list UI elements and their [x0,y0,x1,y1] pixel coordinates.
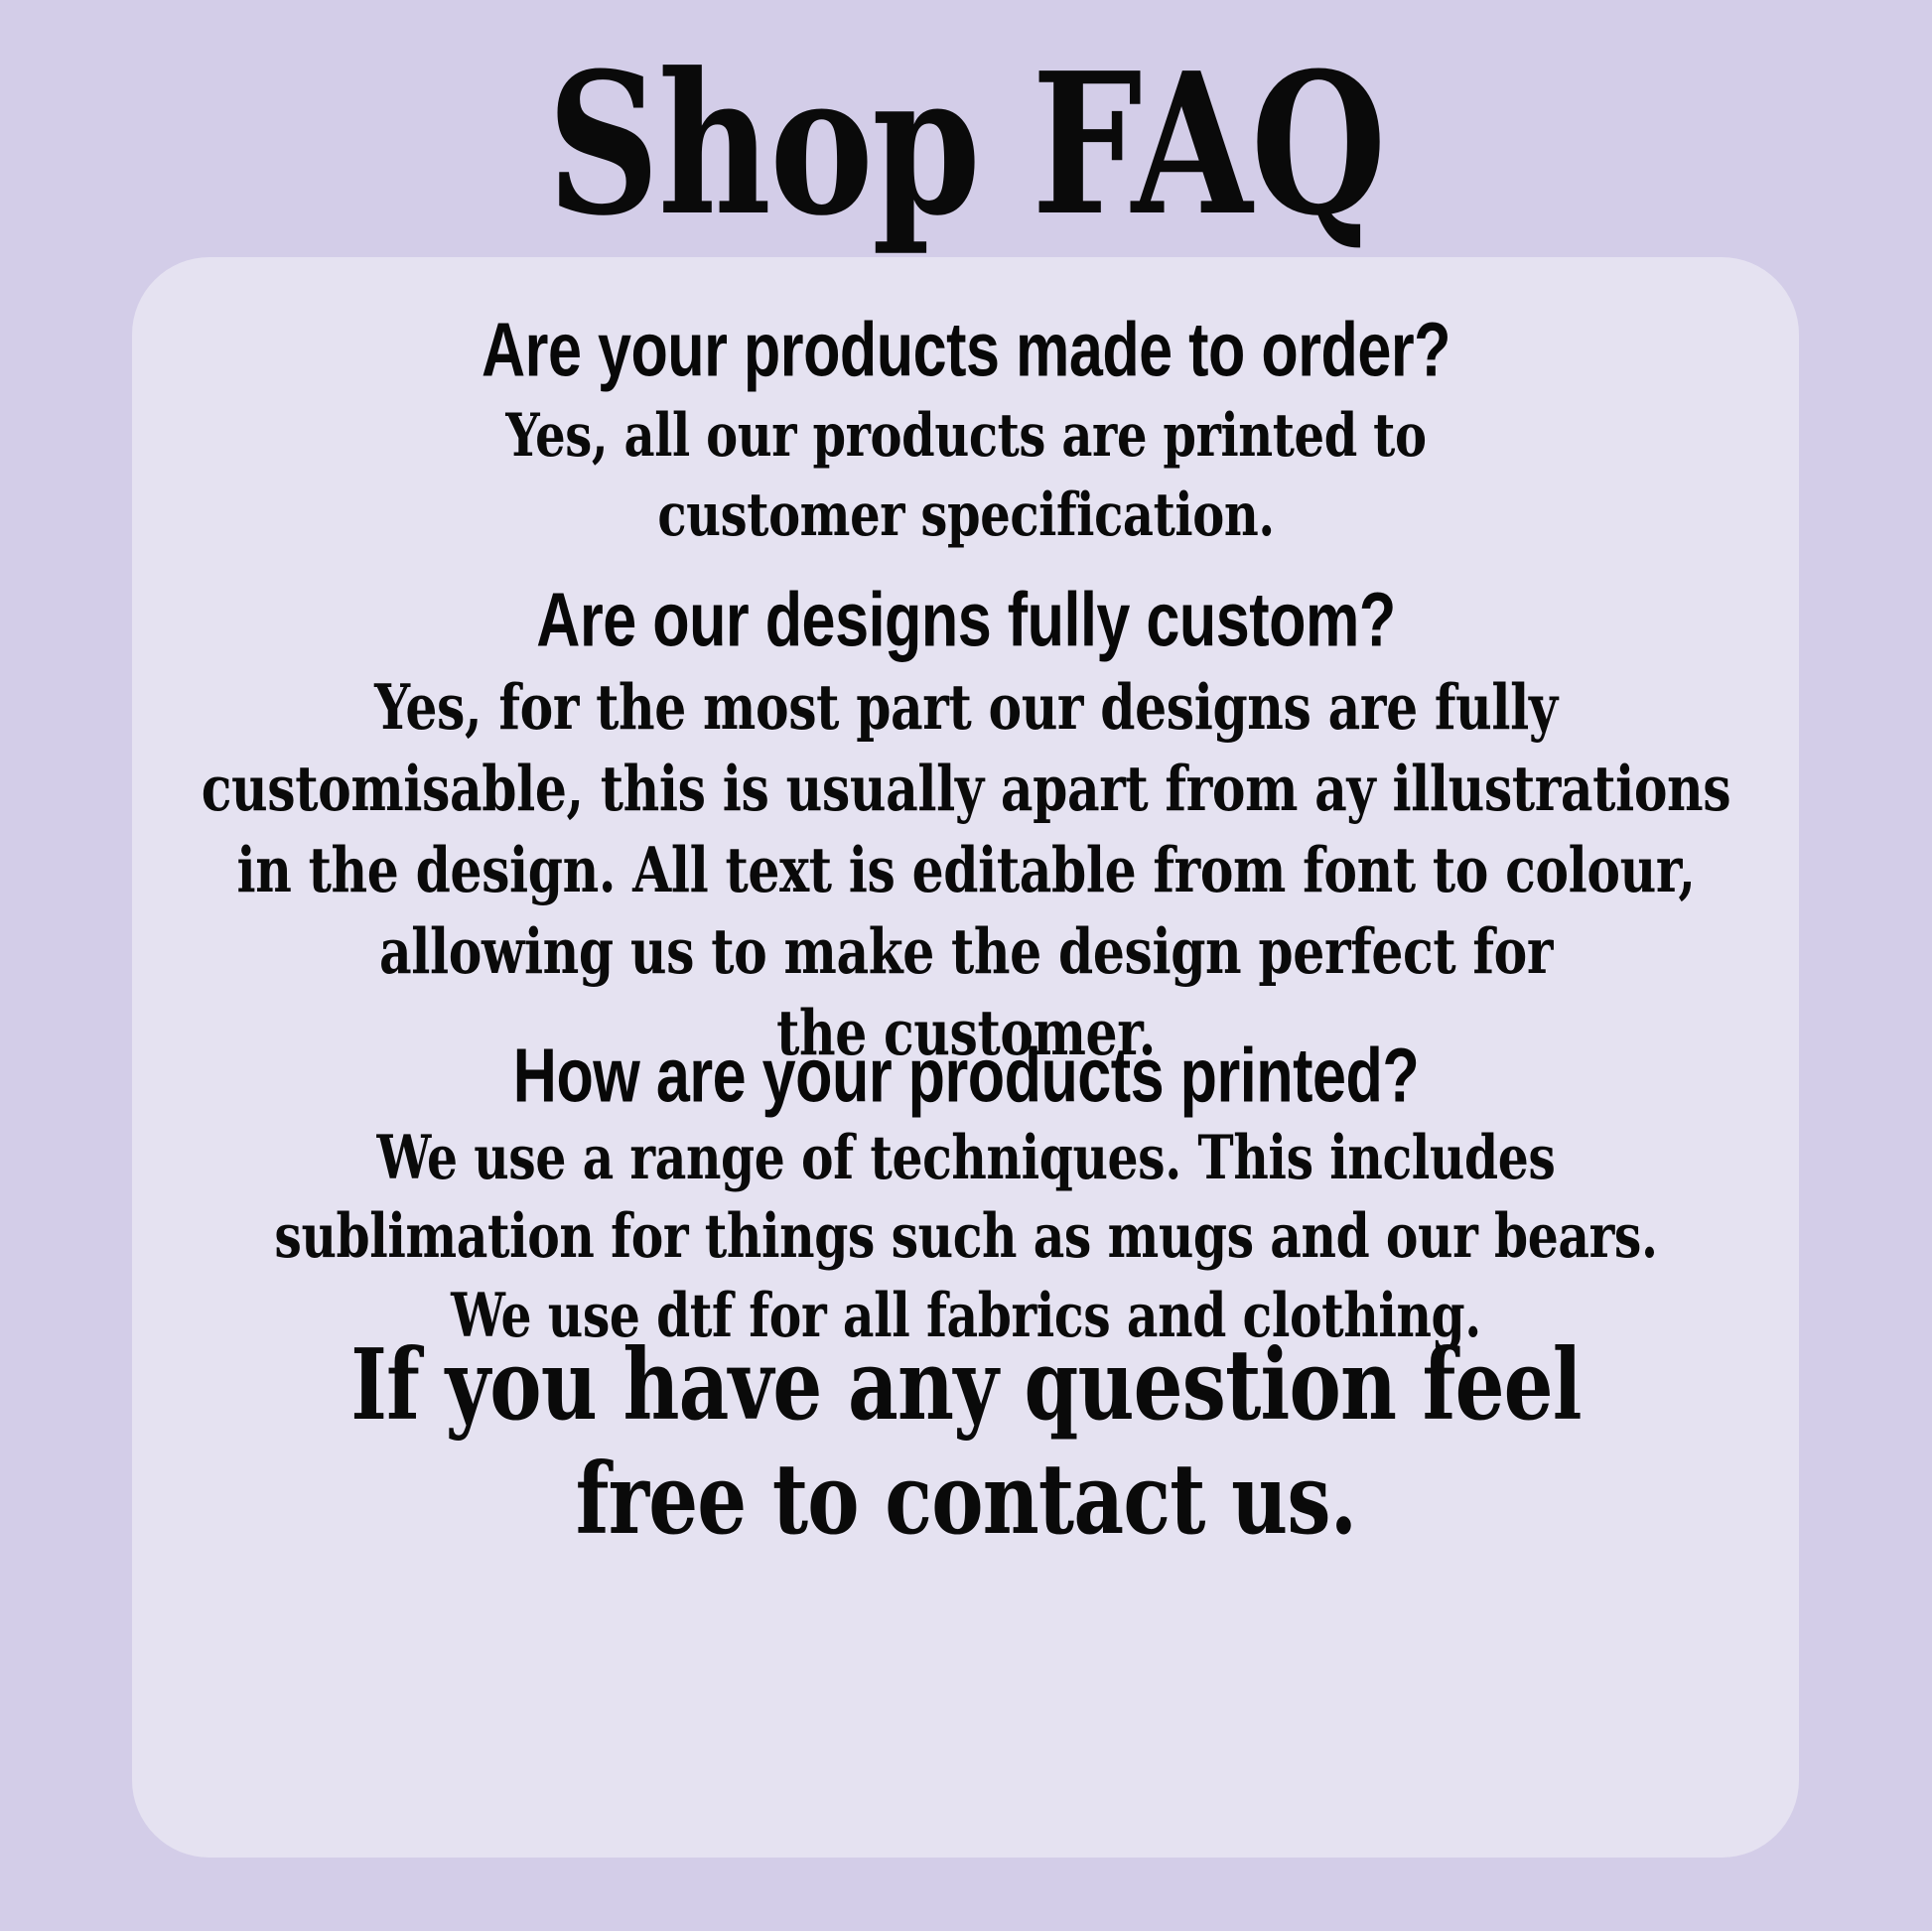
faq-question-2: Are our designs fully custom? [29,583,1903,659]
faq-answer-2: Yes, for the most part our designs are f… [194,667,1739,1073]
faq-answer-3: We use a range of techniques. This inclu… [194,1119,1739,1355]
faq-answer-1: Yes, all our products are printed to cus… [194,397,1739,556]
faq-question-3: How are your products printed? [29,1038,1903,1115]
page-title: Shop FAQ [194,44,1739,248]
faq-question-1: Are your products made to order? [29,313,1903,389]
closing-contact-message: If you have any question feel free to co… [194,1329,1739,1557]
